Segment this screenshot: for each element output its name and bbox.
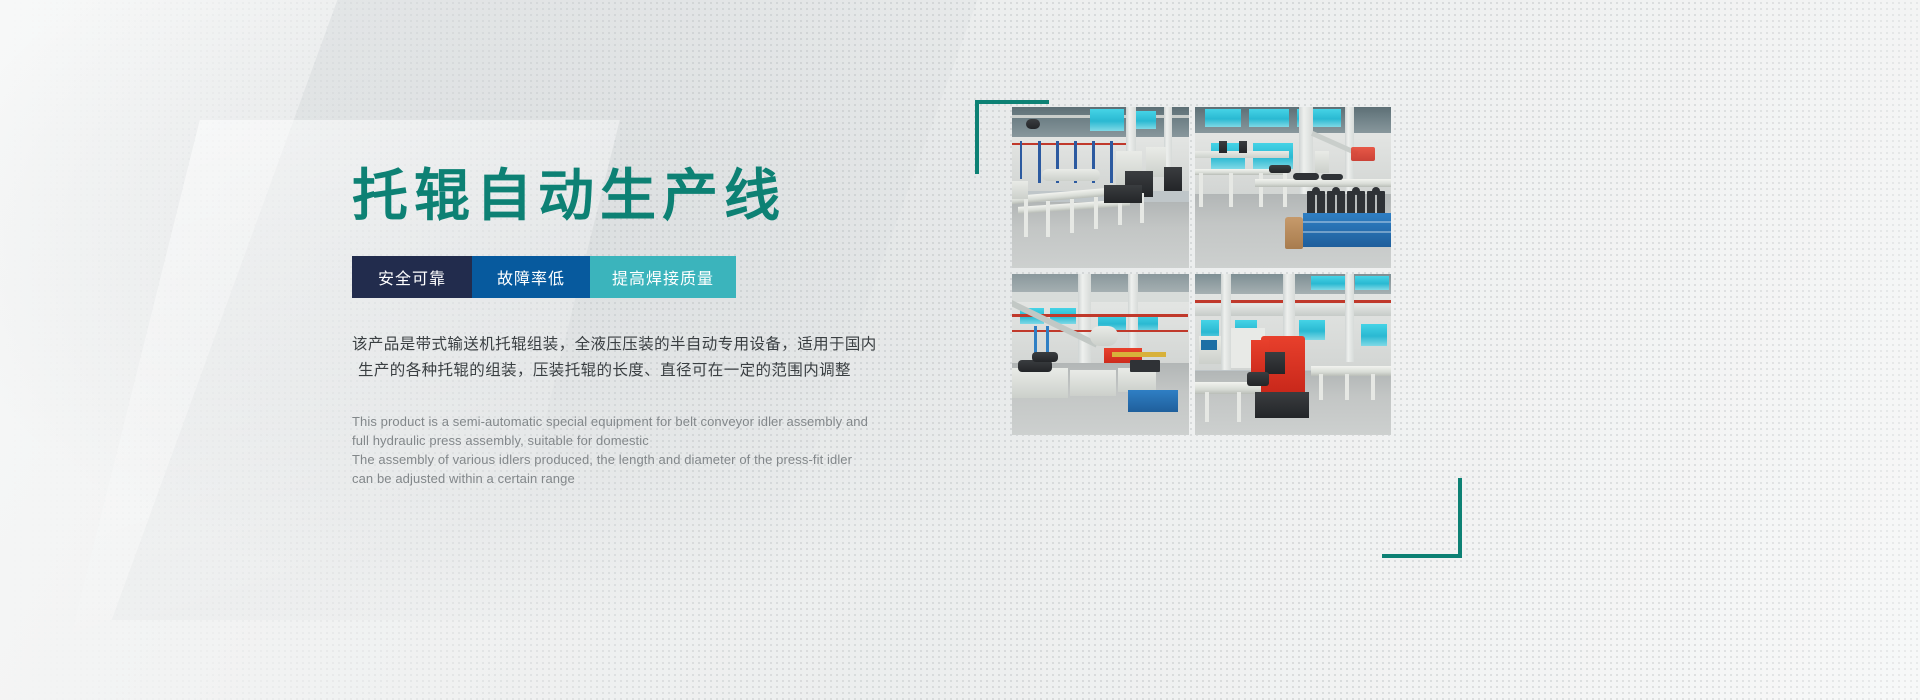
description-en-line-3: The assembly of various idlers produced,… [352,450,972,469]
description-chinese: 该产品是带式输送机托辊组装，全液压压装的半自动专用设备，适用于国内 生产的各种托… [352,332,972,384]
badge-safety-reliable[interactable]: 安全可靠 [352,256,472,298]
product-banner: 托辊自动生产线 安全可靠 故障率低 提高焊接质量 该产品是带式输送机托辊组装，全… [0,0,1920,700]
description-en-line-2: full hydraulic press assembly, suitable … [352,431,972,450]
badge-improve-weld-quality[interactable]: 提高焊接质量 [590,256,736,298]
description-cn-line-2: 生产的各种托辊的组装，压装托辊的长度、直径可在一定的范围内调整 [352,358,972,384]
feature-badge-row: 安全可靠 故障率低 提高焊接质量 [352,256,736,298]
badge-low-failure-rate[interactable]: 故障率低 [472,256,590,298]
banner-text-column: 托辊自动生产线 安全可靠 故障率低 提高焊接质量 该产品是带式输送机托辊组装，全… [352,168,972,488]
description-en-line-1: This product is a semi-automatic special… [352,412,972,431]
page-title: 托辊自动生产线 [352,168,972,224]
description-en-line-4: can be adjusted within a certain range [352,469,972,488]
corner-bracket-bottom-right-icon [1382,478,1462,558]
description-cn-line-1: 该产品是带式输送机托辊组装，全液压压装的半自动专用设备，适用于国内 [352,336,877,353]
photo-red-press[interactable] [1195,274,1391,435]
photo-assembly-station[interactable] [1012,274,1189,435]
product-photo-grid [1012,107,1412,435]
photo-conveyor-line[interactable] [1012,107,1189,268]
photo-workbench-rollers[interactable] [1195,107,1391,268]
description-english: This product is a semi-automatic special… [352,412,972,488]
